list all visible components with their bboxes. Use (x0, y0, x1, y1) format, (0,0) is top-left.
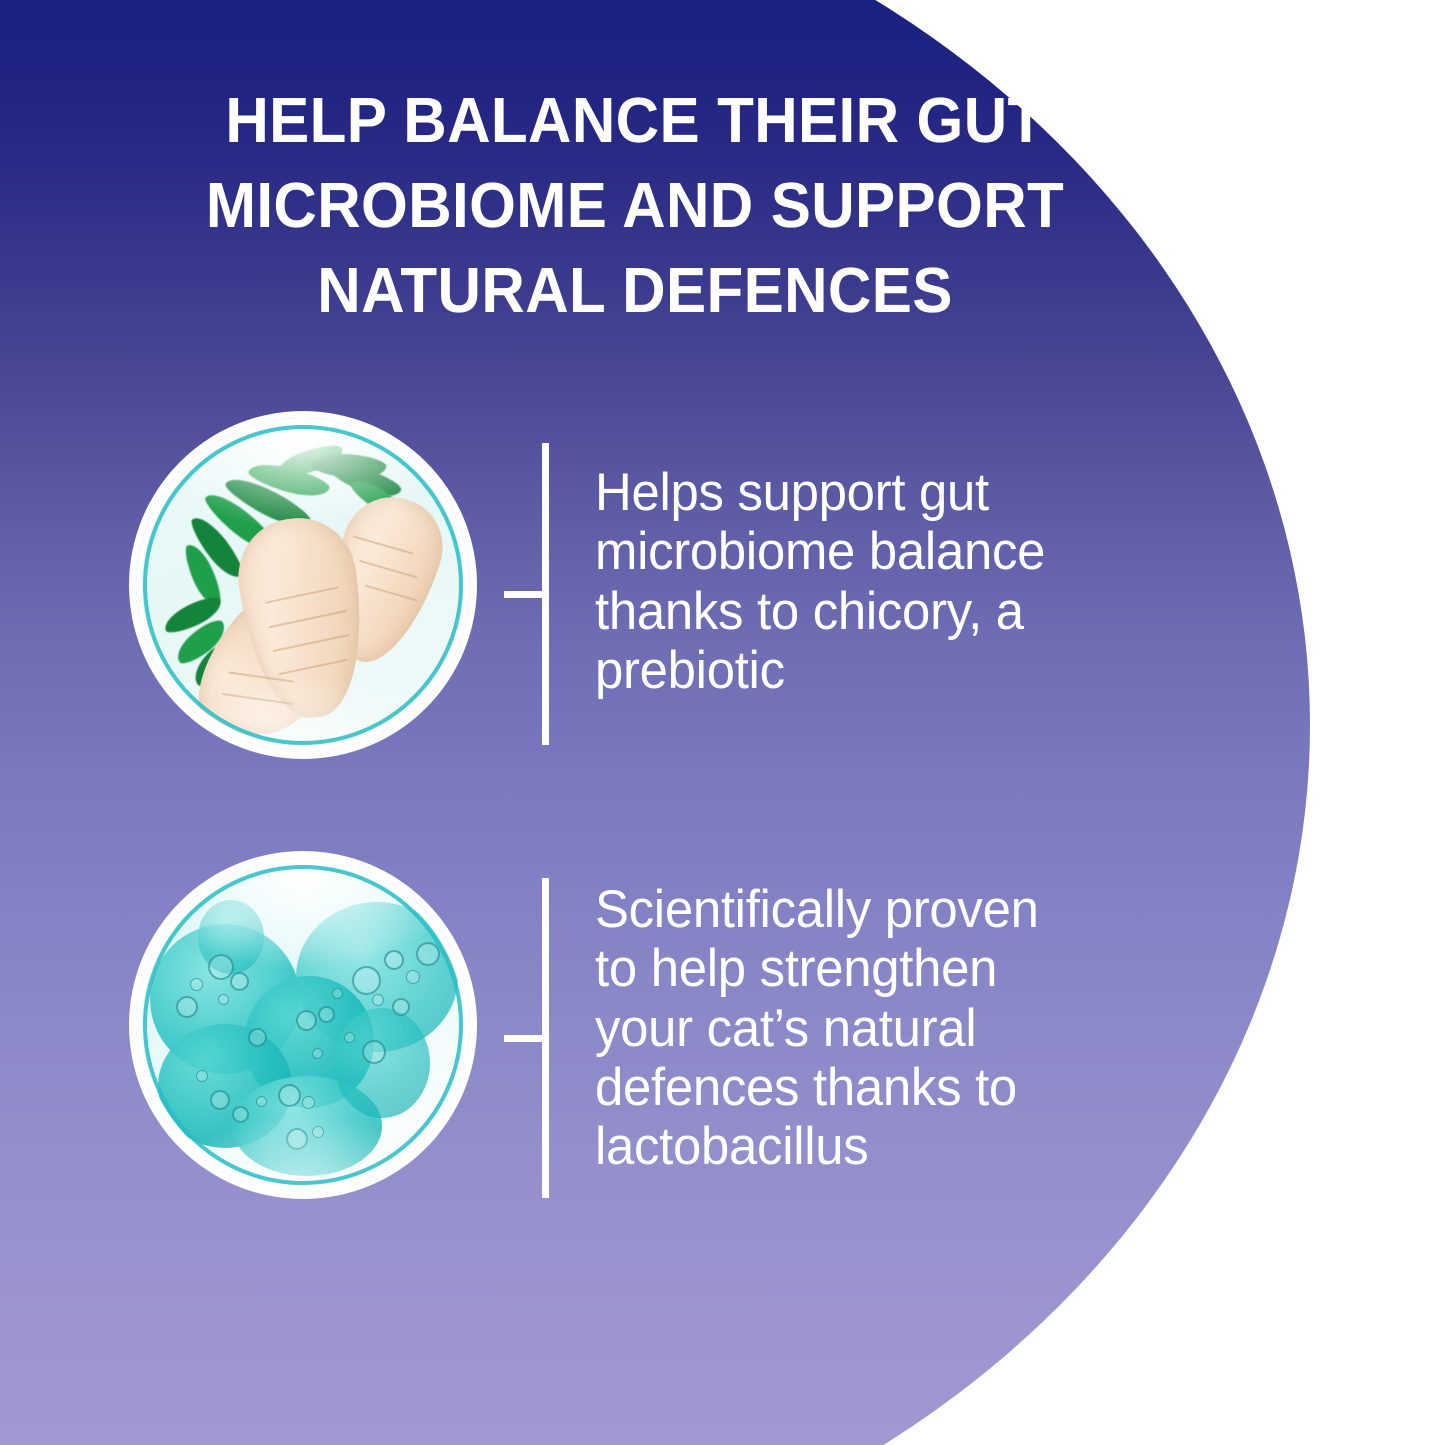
gel-bubble (344, 1032, 355, 1043)
gel-bubble (332, 988, 343, 999)
benefit-text-line: Helps support gut (595, 463, 1045, 522)
gel-bubble (406, 970, 420, 984)
gel-bubble (362, 1040, 386, 1064)
gel-bubble (312, 1048, 323, 1059)
petri-dish-chicory-root (136, 418, 470, 752)
connector-tick (504, 1035, 549, 1042)
gel-bubble (392, 998, 410, 1016)
gel-bubble (384, 950, 404, 970)
benefit-text-line: thanks to chicory, a (595, 582, 1045, 641)
gel-bubble (232, 1106, 249, 1123)
petri-dish-lactobacillus-image (136, 858, 470, 1192)
benefit-text-lactobacillus-defences: Scientifically proven to help strengthen… (595, 880, 1039, 1177)
page-title-line-2: MICROBIOME AND SUPPORT (38, 163, 1232, 248)
gel-bubble (416, 942, 440, 966)
gel-bubble (210, 1090, 230, 1110)
connector-tick (504, 591, 549, 598)
page-title-line-3: NATURAL DEFENCES (38, 248, 1232, 333)
benefit-text-line: microbiome balance (595, 522, 1045, 581)
gel-bubble (176, 996, 198, 1018)
benefit-text-line: defences thanks to (595, 1058, 1039, 1117)
gel-bubble (278, 1084, 301, 1107)
gel-bubble (196, 1070, 208, 1082)
benefit-text-line: Scientifically proven (595, 880, 1039, 939)
gel-bubble (318, 1006, 335, 1023)
page-title-line-1: HELP BALANCE THEIR GUT (38, 78, 1232, 163)
gel-bubble (256, 1096, 267, 1107)
gel-bubble (312, 1126, 324, 1138)
page-title: HELP BALANCE THEIR GUT MICROBIOME AND SU… (38, 78, 1232, 333)
gel-bubble (296, 1010, 317, 1031)
gel-bubble (190, 978, 203, 991)
gel-bubble (218, 994, 229, 1005)
gel-bubble (230, 972, 249, 991)
gel-bubble (352, 966, 381, 995)
benefit-text-line: to help strengthen (595, 939, 1039, 998)
benefit-text-line: lactobacillus (595, 1117, 1039, 1176)
benefit-text-line: your cat’s natural (595, 999, 1039, 1058)
gel-bubble (248, 1028, 267, 1047)
petri-dish-lactobacillus-gel (136, 858, 470, 1192)
gel-bubble (372, 994, 384, 1006)
petri-dish-chicory-image (136, 418, 470, 752)
benefit-text-line: prebiotic (595, 641, 1045, 700)
infographic-canvas: HELP BALANCE THEIR GUT MICROBIOME AND SU… (0, 0, 1445, 1445)
gel-blob (334, 1008, 430, 1118)
gel-bubble (302, 1096, 315, 1109)
gel-bubble (286, 1128, 308, 1150)
benefit-text-prebiotic-chicory: Helps support gut microbiome balance tha… (595, 463, 1045, 700)
